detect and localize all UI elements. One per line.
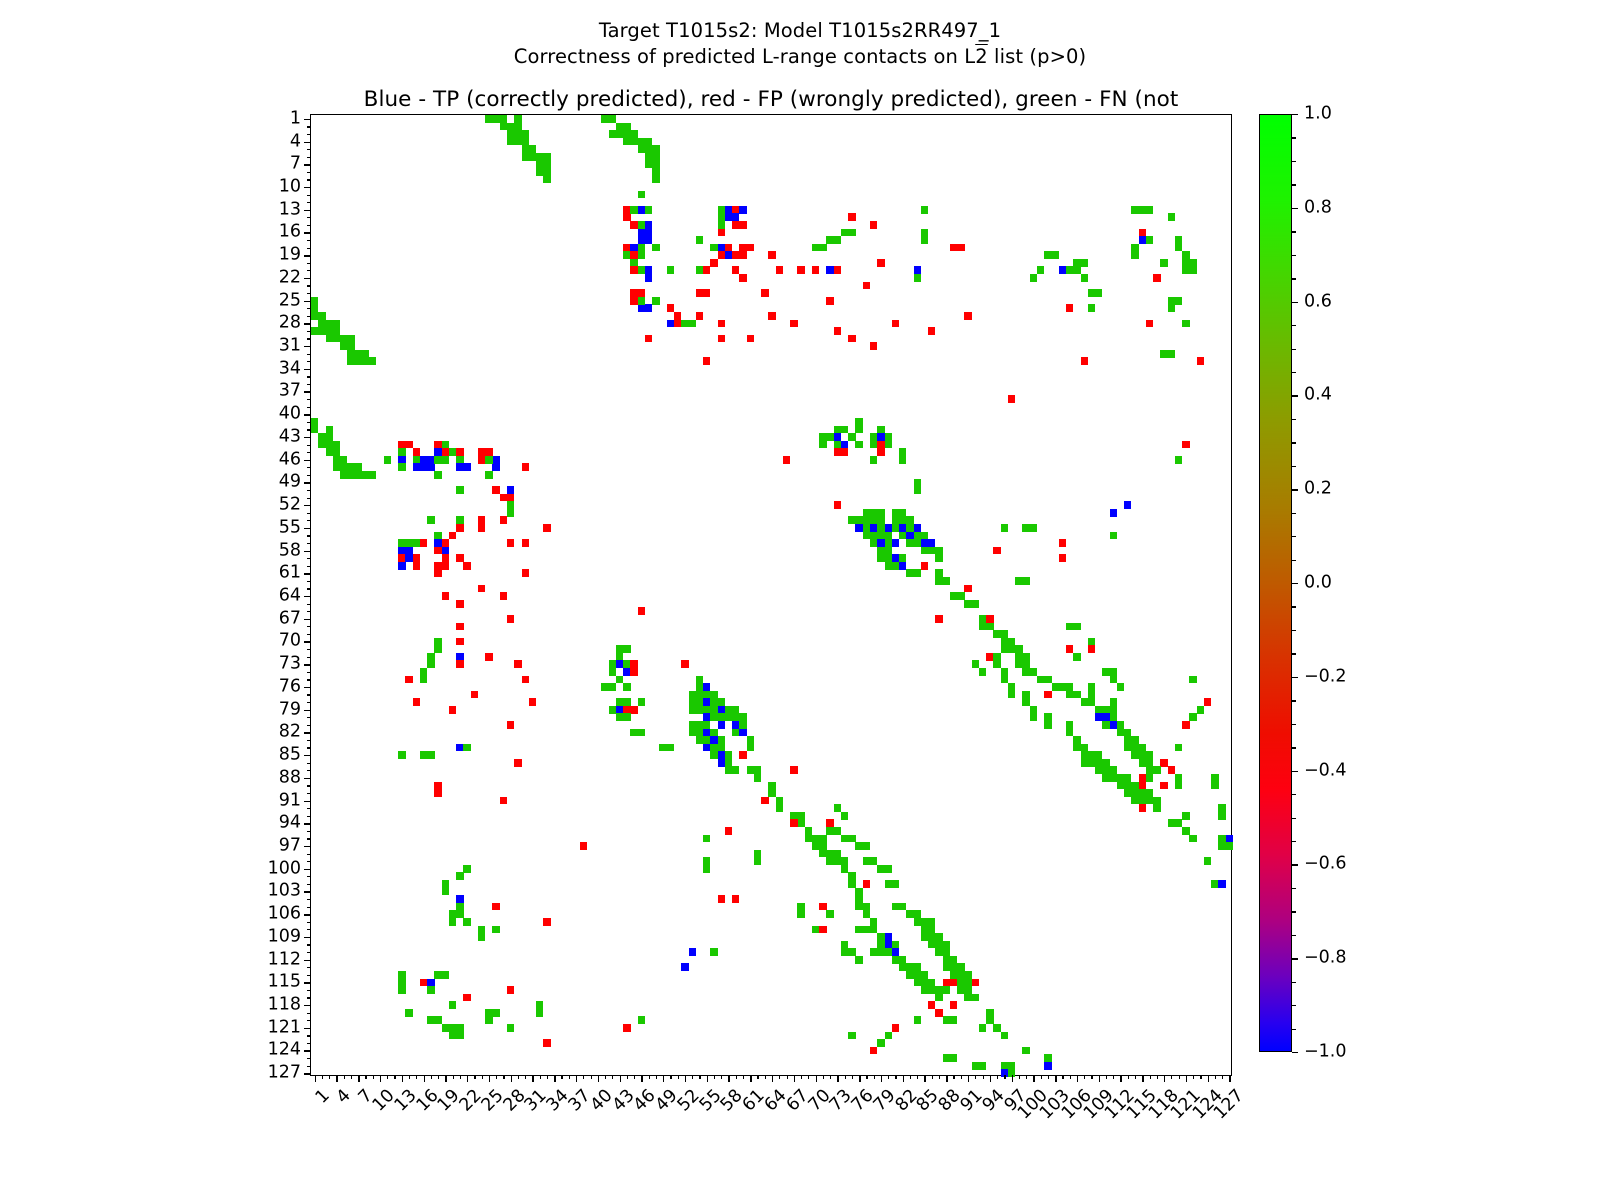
contact-cell	[986, 1016, 993, 1024]
x-tick-minor	[714, 1075, 715, 1079]
y-tick-minor	[307, 1013, 311, 1014]
contact-cell	[1022, 1047, 1029, 1055]
contact-cell	[434, 569, 441, 577]
contact-cell	[834, 327, 841, 335]
contact-cell	[522, 130, 529, 138]
contact-cell	[1030, 706, 1037, 714]
x-tick-minor	[910, 1075, 911, 1079]
contact-cell	[1110, 509, 1117, 517]
contact-cell	[384, 456, 391, 464]
y-tick-minor	[307, 581, 311, 582]
x-tick-minor	[1179, 1075, 1180, 1079]
contact-cell	[921, 562, 928, 570]
contact-cell	[914, 910, 921, 918]
contact-cell	[899, 456, 906, 464]
contact-cell	[1110, 698, 1117, 706]
y-tick-major	[304, 232, 311, 233]
y-tick-major	[304, 755, 311, 756]
y-tick-label: 109	[268, 928, 301, 946]
y-tick-label: 55	[279, 519, 301, 537]
contact-cell	[667, 744, 674, 752]
contact-cell	[964, 971, 971, 979]
contact-cell	[456, 600, 463, 608]
contact-cell	[972, 660, 979, 668]
y-tick-minor	[307, 240, 311, 241]
y-tick-label: 34	[279, 360, 301, 378]
contact-cell	[1211, 782, 1218, 790]
contact-cell	[456, 1024, 463, 1032]
colorbar-tick-minor	[1292, 419, 1296, 420]
contact-cell	[754, 850, 761, 858]
contact-cell	[1189, 835, 1196, 843]
contact-cell	[681, 660, 688, 668]
colorbar-tick	[1292, 583, 1298, 584]
x-tick-minor	[866, 1075, 867, 1079]
x-tick-minor	[1019, 1075, 1020, 1079]
y-tick-major	[304, 528, 311, 529]
contact-cell	[1110, 676, 1117, 684]
contact-cell	[1081, 357, 1088, 365]
y-tick-label: 40	[279, 405, 301, 423]
contact-cell	[739, 751, 746, 759]
suptitle-line-2: Correctness of predicted L-range contact…	[0, 44, 1600, 70]
contact-cell	[747, 335, 754, 343]
contact-cell	[870, 221, 877, 229]
y-tick-minor	[307, 134, 311, 135]
contact-cell	[1197, 357, 1204, 365]
contact-cell	[1160, 782, 1167, 790]
contact-cell	[652, 145, 659, 153]
contact-cell	[434, 782, 441, 790]
contact-cell	[311, 297, 318, 305]
contact-cell	[645, 335, 652, 343]
x-tick-minor	[939, 1075, 940, 1079]
y-tick-major	[304, 846, 311, 847]
colorbar-tick-label: −0.8	[1304, 949, 1347, 967]
contact-cell	[1001, 676, 1008, 684]
contact-cell	[855, 418, 862, 426]
x-tick-major	[903, 1075, 904, 1082]
x-tick-major	[1186, 1075, 1187, 1082]
contact-cell	[1001, 1032, 1008, 1040]
contact-cell	[463, 865, 470, 873]
x-tick-major	[816, 1075, 817, 1082]
y-tick-major	[304, 278, 311, 279]
contact-map-plot[interactable]: 1471013161922252831343740434649525558616…	[310, 114, 1232, 1076]
y-tick-minor	[307, 854, 311, 855]
contact-cell	[449, 1001, 456, 1009]
x-tick-major	[990, 1075, 991, 1082]
colorbar-tick-minor	[1292, 231, 1296, 232]
contact-cell	[812, 926, 819, 934]
x-tick-major	[794, 1075, 795, 1082]
x-tick-major	[924, 1075, 925, 1082]
y-tick-minor	[307, 498, 311, 499]
x-tick-minor	[394, 1075, 395, 1079]
contact-cell	[1218, 812, 1225, 820]
x-tick-major	[1208, 1075, 1209, 1082]
contact-cell	[899, 956, 906, 964]
contact-cell	[529, 698, 536, 706]
contact-cell	[1211, 774, 1218, 782]
contact-cell	[645, 236, 652, 244]
y-tick-minor	[307, 725, 311, 726]
contact-cell	[1117, 683, 1124, 691]
contact-cell	[964, 312, 971, 320]
contact-cell	[311, 418, 318, 426]
contact-cell	[1044, 713, 1051, 721]
contact-cell	[427, 986, 434, 994]
y-tick-minor	[307, 543, 311, 544]
y-tick-major	[304, 482, 311, 483]
contact-cell	[449, 532, 456, 540]
contact-cell	[1001, 524, 1008, 532]
contact-cell	[333, 320, 340, 328]
contact-cell	[950, 956, 957, 964]
contact-cell	[326, 433, 333, 441]
y-tick-minor	[307, 361, 311, 362]
contact-cell	[492, 463, 499, 471]
contact-cell	[463, 744, 470, 752]
contact-cell	[1131, 244, 1138, 252]
contact-cell	[1153, 804, 1160, 812]
y-tick-minor	[307, 657, 311, 658]
contact-cell	[725, 244, 732, 252]
contact-cell	[739, 274, 746, 282]
contact-cell	[986, 623, 993, 631]
colorbar-tick-label: 0.6	[1304, 293, 1332, 311]
x-tick-minor	[1128, 1075, 1129, 1079]
contact-cell	[848, 229, 855, 237]
contact-cell	[703, 357, 710, 365]
x-tick-major	[663, 1075, 664, 1082]
contact-cell	[369, 357, 376, 365]
contact-cell	[456, 516, 463, 524]
x-tick-minor	[983, 1075, 984, 1079]
contact-cell	[819, 903, 826, 911]
contact-cell	[812, 266, 819, 274]
x-tick-minor	[365, 1075, 366, 1079]
contact-cell	[1146, 774, 1153, 782]
contact-cell	[413, 698, 420, 706]
colorbar-tick-label: 0.0	[1304, 574, 1332, 592]
y-tick-major	[304, 460, 311, 461]
y-tick-label: 4	[290, 133, 301, 151]
contact-cell	[732, 213, 739, 221]
contact-cell	[492, 926, 499, 934]
x-tick-minor	[547, 1075, 548, 1079]
contact-cell	[543, 168, 550, 176]
colorbar-tick-minor	[1292, 1029, 1296, 1030]
contact-cell	[1139, 744, 1146, 752]
contact-cell	[1189, 259, 1196, 267]
colorbar-tick-minor	[1292, 137, 1296, 138]
contact-cell	[935, 554, 942, 562]
y-tick-label: 70	[279, 633, 301, 651]
y-tick-major	[304, 210, 311, 211]
contact-cell	[638, 297, 645, 305]
x-tick-minor	[1026, 1075, 1027, 1079]
contact-cell	[855, 956, 862, 964]
contact-cell	[826, 297, 833, 305]
colorbar[interactable]: 1.00.80.60.40.20.0−0.2−0.4−0.6−0.8−1.0	[1259, 114, 1292, 1052]
contact-cell	[1088, 638, 1095, 646]
contact-cell	[645, 266, 652, 274]
contact-cell	[841, 865, 848, 873]
y-tick-label: 43	[279, 428, 301, 446]
contact-cell	[935, 994, 942, 1002]
figure-title-block: Target T1015s2: Model T1015s2RR497_1 Cor…	[0, 18, 1600, 70]
x-tick-minor	[757, 1075, 758, 1079]
contact-cell	[543, 918, 550, 926]
contact-cell	[638, 607, 645, 615]
contact-cell	[848, 1032, 855, 1040]
contact-cell	[848, 433, 855, 441]
contact-cell	[1175, 782, 1182, 790]
x-tick-label: 4	[335, 1087, 355, 1107]
y-tick-major	[304, 346, 311, 347]
y-tick-minor	[307, 952, 311, 953]
contact-cell	[326, 426, 333, 434]
contact-cell	[645, 274, 652, 282]
x-tick-major	[620, 1075, 621, 1082]
y-tick-minor	[307, 604, 311, 605]
contact-cell	[1160, 759, 1167, 767]
contact-cell	[1175, 244, 1182, 252]
contact-cell	[369, 471, 376, 479]
colorbar-tick-label: 0.8	[1304, 199, 1332, 217]
contact-cell	[333, 327, 340, 335]
contact-cell	[398, 971, 405, 979]
contact-cell	[652, 160, 659, 168]
y-tick-minor	[307, 588, 311, 589]
colorbar-tick-minor	[1292, 747, 1296, 748]
contact-cell	[1139, 229, 1146, 237]
x-tick-minor	[1048, 1075, 1049, 1079]
y-tick-major	[304, 960, 311, 961]
contact-cell	[1146, 789, 1153, 797]
contact-cell	[776, 804, 783, 812]
contact-cell	[1044, 691, 1051, 699]
y-tick-major	[304, 551, 311, 552]
y-tick-minor	[307, 899, 311, 900]
x-tick-major	[728, 1075, 729, 1082]
contact-cell	[906, 516, 913, 524]
x-tick-minor	[416, 1075, 417, 1079]
x-tick-minor	[845, 1075, 846, 1079]
contact-cell	[652, 168, 659, 176]
contact-cell	[543, 153, 550, 161]
y-tick-label: 103	[268, 883, 301, 901]
contact-cell	[870, 456, 877, 464]
x-tick-minor	[344, 1075, 345, 1079]
colorbar-tick	[1292, 958, 1298, 959]
contact-cell	[471, 691, 478, 699]
colorbar-tick-minor	[1292, 536, 1296, 537]
contact-cell	[543, 176, 550, 184]
contact-cell	[463, 918, 470, 926]
contact-cell	[1146, 206, 1153, 214]
y-tick-minor	[307, 285, 311, 286]
y-tick-major	[304, 914, 311, 915]
contact-cell	[420, 676, 427, 684]
colorbar-tick-minor	[1292, 466, 1296, 467]
colorbar-tick-minor	[1292, 278, 1296, 279]
y-tick-label: 91	[279, 792, 301, 810]
contact-cell	[1044, 1062, 1051, 1070]
y-tick-label: 61	[279, 565, 301, 583]
contact-cell	[768, 782, 775, 790]
y-tick-label: 79	[279, 701, 301, 719]
contact-cell	[1168, 213, 1175, 221]
x-tick-major	[554, 1075, 555, 1082]
x-tick-major	[1012, 1075, 1013, 1082]
contact-cell	[1175, 297, 1182, 305]
contact-cell	[892, 320, 899, 328]
contact-cell	[848, 213, 855, 221]
contact-cell	[492, 456, 499, 464]
x-tick-minor	[953, 1075, 954, 1079]
colorbar-tick	[1292, 489, 1298, 490]
y-tick-major	[304, 687, 311, 688]
contact-cell	[957, 244, 964, 252]
y-tick-minor	[307, 149, 311, 150]
contact-cell	[413, 539, 420, 547]
y-tick-label: 127	[268, 1064, 301, 1082]
x-tick-minor	[605, 1075, 606, 1079]
contact-cell	[761, 797, 768, 805]
contact-cell	[703, 721, 710, 729]
y-tick-minor	[307, 907, 311, 908]
x-tick-major	[532, 1075, 533, 1082]
y-tick-label: 112	[268, 951, 301, 969]
contact-cell	[696, 236, 703, 244]
contact-cell	[1204, 857, 1211, 865]
contact-cell	[456, 554, 463, 562]
contact-cell	[1081, 259, 1088, 267]
contact-cell	[1030, 524, 1037, 532]
contact-cell	[1175, 744, 1182, 752]
y-tick-label: 37	[279, 383, 301, 401]
x-tick-minor	[852, 1075, 853, 1079]
y-tick-major	[304, 664, 311, 665]
contact-cell	[1146, 759, 1153, 767]
contact-cell	[1131, 251, 1138, 259]
x-tick-minor	[1171, 1075, 1172, 1079]
contact-cell	[507, 501, 514, 509]
y-tick-minor	[307, 944, 311, 945]
y-tick-major	[304, 164, 311, 165]
contact-cell	[1001, 630, 1008, 638]
contact-cell	[456, 903, 463, 911]
contact-cell	[1124, 774, 1131, 782]
y-tick-major	[304, 1028, 311, 1029]
contact-cell	[732, 706, 739, 714]
contact-cell	[456, 638, 463, 646]
contact-cell	[398, 986, 405, 994]
y-tick-label: 10	[279, 178, 301, 196]
y-tick-minor	[307, 422, 311, 423]
contact-cell	[819, 835, 826, 843]
contact-cell	[797, 903, 804, 911]
contact-cell	[667, 266, 674, 274]
contact-cell	[478, 933, 485, 941]
contact-cell	[768, 251, 775, 259]
contact-cell	[580, 842, 587, 850]
contact-cell	[885, 441, 892, 449]
y-tick-minor	[307, 513, 311, 514]
x-tick-minor	[518, 1075, 519, 1079]
contact-cell	[848, 880, 855, 888]
contact-cell	[914, 524, 921, 532]
contact-cell	[885, 1032, 892, 1040]
colorbar-tick-label: −0.2	[1304, 668, 1347, 686]
x-tick-minor	[1150, 1075, 1151, 1079]
x-tick-label: 1	[313, 1087, 333, 1107]
x-tick-minor	[496, 1075, 497, 1079]
contact-cell	[1102, 759, 1109, 767]
contact-cell	[434, 547, 441, 555]
x-tick-major	[424, 1075, 425, 1082]
y-tick-label: 85	[279, 746, 301, 764]
colorbar-tick-label: 0.2	[1304, 480, 1332, 498]
colorbar-tick-minor	[1292, 653, 1296, 654]
contact-cell	[1088, 683, 1095, 691]
suptitle-fraction-denominator: 2	[975, 45, 988, 68]
contact-cell	[536, 1009, 543, 1017]
contact-cell	[1139, 804, 1146, 812]
contact-cell	[434, 456, 441, 464]
contact-cell	[485, 653, 492, 661]
contact-cell	[507, 539, 514, 547]
contact-cell	[747, 766, 754, 774]
contact-cell	[1008, 638, 1015, 646]
contact-cell	[739, 713, 746, 721]
contact-cell	[456, 524, 463, 532]
contact-cell	[943, 941, 950, 949]
y-tick-minor	[307, 1043, 311, 1044]
contact-cell	[434, 789, 441, 797]
contact-cell	[1081, 274, 1088, 282]
y-tick-major	[304, 823, 311, 824]
contact-cell	[638, 698, 645, 706]
x-tick-minor	[699, 1075, 700, 1079]
contact-cell	[652, 297, 659, 305]
x-tick-major	[402, 1075, 403, 1082]
x-tick-major	[772, 1075, 773, 1082]
contact-cell	[1124, 501, 1131, 509]
y-tick-minor	[307, 717, 311, 718]
contact-cell	[1066, 304, 1073, 312]
y-tick-major	[304, 869, 311, 870]
y-tick-minor	[307, 490, 311, 491]
contact-cell	[1124, 729, 1131, 737]
y-tick-label: 52	[279, 496, 301, 514]
contact-cell	[674, 312, 681, 320]
contact-cell	[892, 1024, 899, 1032]
contact-cell	[928, 979, 935, 987]
contact-cell	[463, 463, 470, 471]
x-tick-major	[336, 1075, 337, 1082]
contact-cell	[834, 827, 841, 835]
contact-cell	[841, 941, 848, 949]
y-tick-label: 121	[268, 1019, 301, 1037]
contact-cell	[1168, 304, 1175, 312]
contact-cell	[1226, 842, 1233, 850]
y-tick-major	[304, 1050, 311, 1051]
contact-cell	[899, 554, 906, 562]
y-tick-label: 115	[268, 974, 301, 992]
